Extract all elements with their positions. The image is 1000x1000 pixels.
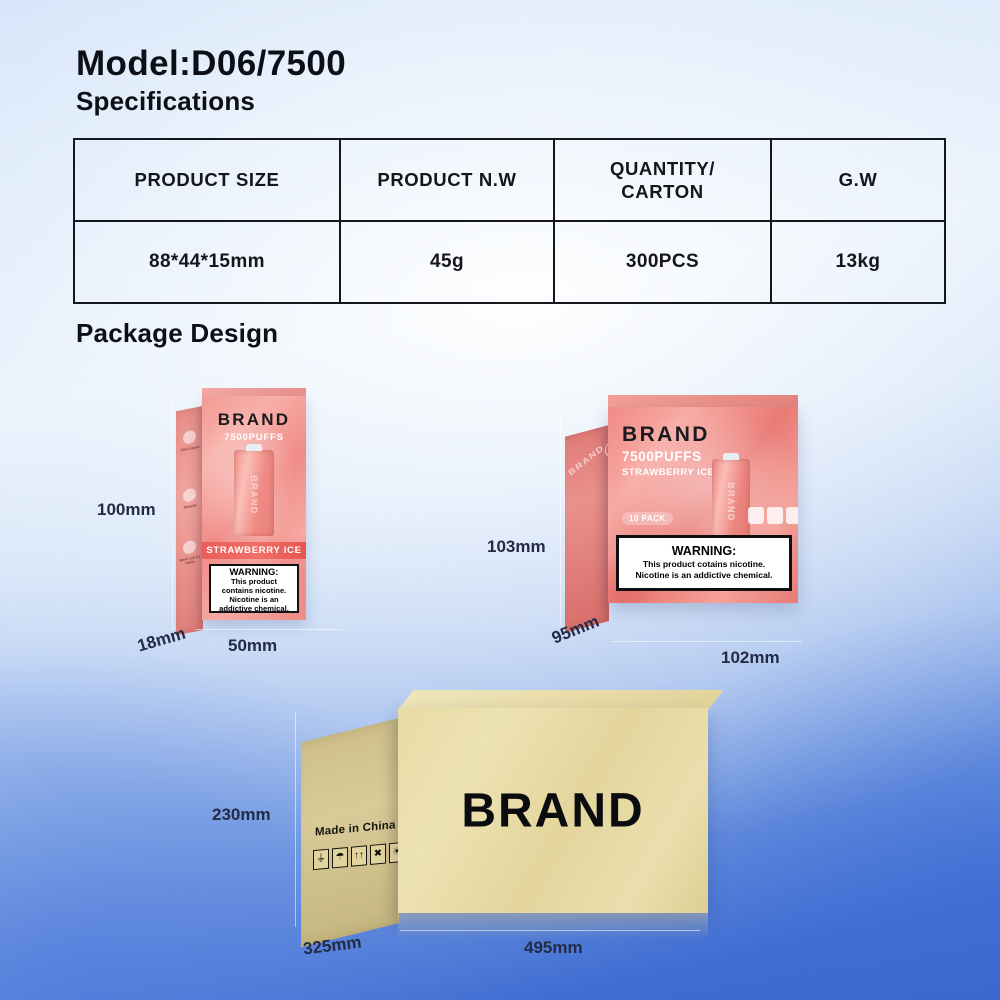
pack-warning-label: WARNING: This product cotains nicotine. … (616, 535, 792, 591)
model-title: Model:D06/7500 (76, 44, 346, 84)
pack-device-image: BRAND (712, 459, 750, 545)
value-gw: 13kg (771, 221, 945, 303)
specifications-table: PRODUCT SIZE PRODUCT N.W QUANTITY/ CARTO… (73, 138, 946, 304)
this-side-up-icon: ↑↑ (351, 845, 367, 866)
unit-puff-count: 7500PUFFS (202, 432, 306, 443)
unit-guide-vertical (172, 398, 173, 630)
carton-top-face (398, 690, 724, 710)
pack-warning-line1: This product cotains nicotine. (643, 559, 765, 570)
pack-warning-title: WARNING: (672, 545, 737, 559)
ten-pack-illustration: BRAND 18+ BRAND 7500PUFFS STRAWBERRY ICE… (545, 395, 845, 645)
pack-brand-logo: BRAND (622, 423, 710, 447)
unit-feature-label-2: 100mAh (179, 502, 201, 511)
table-header-row: PRODUCT SIZE PRODUCT N.W QUANTITY/ CARTO… (74, 139, 945, 221)
unit-warning-label: WARNING: This product contains nicotine.… (209, 564, 299, 613)
unit-device-image: BRAND (234, 450, 274, 536)
header-quantity-line1: QUANTITY/ (556, 157, 769, 180)
pack-box-side-face: BRAND 18+ (565, 425, 609, 633)
table-value-row: 88*44*15mm 45g 300PCS 13kg (74, 221, 945, 303)
pack-flavor-label: STRAWBERRY ICE (622, 467, 715, 478)
unit-feature-badge-3 (183, 539, 196, 555)
unit-dimension-depth: 18mm (135, 624, 188, 657)
keep-dry-icon: ☂ (332, 847, 348, 868)
page-content: Model:D06/7500 Specifications PRODUCT SI… (0, 0, 1000, 1000)
unit-device-label: BRAND (249, 475, 259, 515)
unit-feature-label-3: Mesh coil 0.1 Ohms (179, 554, 201, 567)
unit-feature-badge-2 (183, 487, 196, 503)
carton-brand-logo: BRAND (461, 783, 644, 838)
unit-guide-horizontal (196, 629, 342, 630)
unit-brand-logo: BRAND (202, 410, 306, 430)
carton-dimension-width: 495mm (524, 938, 583, 958)
header-product-size: PRODUCT SIZE (74, 139, 340, 221)
unit-dimension-width: 50mm (228, 636, 277, 656)
made-in-china-label: Made in China (315, 819, 396, 838)
header-quantity-line2: CARTON (556, 180, 769, 203)
unit-warning-line4: addictive chemical. (213, 605, 295, 614)
pack-count-badge: 10 PACK (622, 512, 673, 525)
pack-feature-icon-2 (767, 507, 783, 524)
unit-box-side-face: 50ml Liquid 100mAh Mesh coil 0.1 Ohms (176, 406, 203, 635)
pack-side-brand-logo: BRAND (567, 443, 606, 478)
carton-guide-vertical (295, 712, 296, 927)
no-hooks-icon: ✖ (370, 844, 386, 865)
header-quantity-carton: QUANTITY/ CARTON (554, 139, 771, 221)
pack-puff-count: 7500PUFFS (622, 449, 702, 464)
specifications-heading: Specifications (76, 86, 255, 117)
pack-dimension-height: 103mm (487, 537, 546, 557)
carton-side-face: Made in China ⏚ ☂ ↑↑ ✖ ☀ (301, 718, 399, 947)
carton-reflection (398, 913, 708, 939)
carton-dimension-height: 230mm (212, 805, 271, 825)
pack-dimension-width: 102mm (721, 648, 780, 668)
package-design-heading: Package Design (76, 318, 278, 349)
unit-flavor-band: STRAWBERRY ICE (202, 542, 306, 559)
unit-box-front-face: BRAND 7500PUFFS BRAND STRAWBERRY ICE WAR… (202, 396, 306, 620)
carton-front-face: BRAND (398, 708, 708, 913)
pack-warning-line2: Nicotine is an addictive chemical. (635, 570, 772, 581)
pack-feature-icon-1 (748, 507, 764, 524)
shipping-symbols-row: ⏚ ☂ ↑↑ ✖ ☀ (313, 842, 399, 870)
pack-feature-icon-3 (786, 507, 798, 524)
pack-guide-vertical (560, 410, 561, 625)
value-product-nw: 45g (340, 221, 554, 303)
unit-dimension-height: 100mm (97, 500, 156, 520)
shipping-carton-illustration: Made in China ⏚ ☂ ↑↑ ✖ ☀ BRAND (270, 690, 740, 945)
fragile-icon: ⏚ (313, 849, 329, 870)
unit-feature-badge-1 (183, 429, 196, 445)
unit-package-illustration: 50ml Liquid 100mAh Mesh coil 0.1 Ohms BR… (168, 388, 338, 638)
header-gw: G.W (771, 139, 945, 221)
unit-feature-label-1: 50ml Liquid (179, 444, 201, 453)
header-product-nw: PRODUCT N.W (340, 139, 554, 221)
value-product-size: 88*44*15mm (74, 221, 340, 303)
pack-device-label: BRAND (726, 482, 736, 522)
pack-guide-horizontal (612, 641, 802, 642)
carton-guide-horizontal (400, 930, 700, 931)
pack-box-front-face: BRAND 7500PUFFS STRAWBERRY ICE BRAND 10 … (608, 407, 798, 603)
value-quantity-carton: 300PCS (554, 221, 771, 303)
